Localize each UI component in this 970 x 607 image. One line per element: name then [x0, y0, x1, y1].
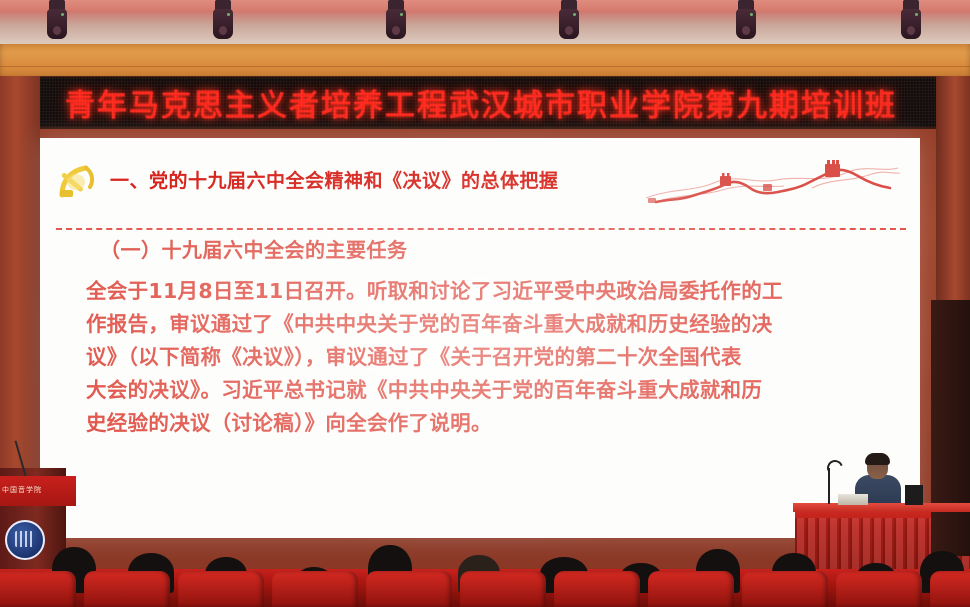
stage-light-icon	[212, 0, 234, 42]
slide-body-line: 议》（以下简称《决议》），审议通过了《关于召开党的第二十次全国代表	[86, 341, 886, 374]
table-microphone-icon	[828, 468, 830, 504]
speaker-nameplate	[838, 494, 868, 505]
stage-light-icon	[558, 0, 580, 42]
slide-body-line: 全会于11月8日至11日召开。听取和讨论了习近平受中央政治局委托作的工	[86, 275, 886, 308]
slide-title-row: 一、党的十九届六中全会精神和《决议》的总体把握	[40, 160, 920, 212]
theater-seat	[836, 571, 922, 607]
podium-banner: 中国音学院	[0, 476, 76, 506]
theater-seat	[930, 571, 970, 607]
side-curtain	[931, 300, 970, 556]
auditorium-photo: 青年马克思主义者培养工程武汉城市职业学院第九期培训班 一、党的十九届六中全会精神…	[0, 0, 970, 607]
theater-seat	[84, 571, 170, 607]
hall-ceiling	[0, 0, 970, 46]
ceiling-trim	[0, 0, 970, 12]
projection-screen: 一、党的十九届六中全会精神和《决议》的总体把握	[40, 138, 920, 538]
theater-seat	[554, 571, 640, 607]
theater-seat	[366, 571, 452, 607]
great-wall-illustration	[642, 158, 902, 208]
stage-light-icon	[735, 0, 757, 42]
stage-light-icon	[46, 0, 68, 42]
led-banner-text: 青年马克思主义者培养工程武汉城市职业学院第九期培训班	[22, 80, 940, 124]
slide-body-line: 作报告，审议通过了《中共中央关于党的百年奋斗重大成就和历史经验的决	[86, 308, 886, 341]
theater-seat	[0, 571, 76, 607]
stage-light-icon	[385, 0, 407, 42]
slide-title: 一、党的十九届六中全会精神和《决议》的总体把握	[110, 166, 559, 193]
podium-banner-text: 中国音学院	[2, 485, 42, 495]
slide-body-line: 史经验的决议（讨论稿）》向全会作了说明。	[86, 407, 886, 440]
stage-light-icon	[900, 0, 922, 42]
hammer-and-sickle-icon	[56, 162, 102, 202]
led-banner: 青年马克思主义者培养工程武汉城市职业学院第九期培训班	[22, 76, 940, 129]
slide-body: （一）十九届六中全会的主要任务 全会于11月8日至11日召开。听取和讨论了习近平…	[86, 234, 886, 440]
slide-body-line: 大会的决议》。习近平总书记就《中共中央关于党的百年奋斗重大成就和历	[86, 374, 886, 407]
theater-seat	[742, 571, 828, 607]
audience	[0, 527, 970, 607]
theater-seat	[178, 571, 264, 607]
theater-seat	[648, 571, 734, 607]
presentation-slide: 一、党的十九届六中全会精神和《决议》的总体把握	[40, 138, 920, 538]
slide-subheading: （一）十九届六中全会的主要任务	[100, 234, 886, 263]
theater-seat	[272, 571, 358, 607]
title-divider	[56, 228, 906, 230]
wood-wall-band	[0, 44, 970, 80]
theater-seat	[460, 571, 546, 607]
laptop-icon	[905, 485, 923, 505]
speaker-table-top	[793, 503, 970, 512]
